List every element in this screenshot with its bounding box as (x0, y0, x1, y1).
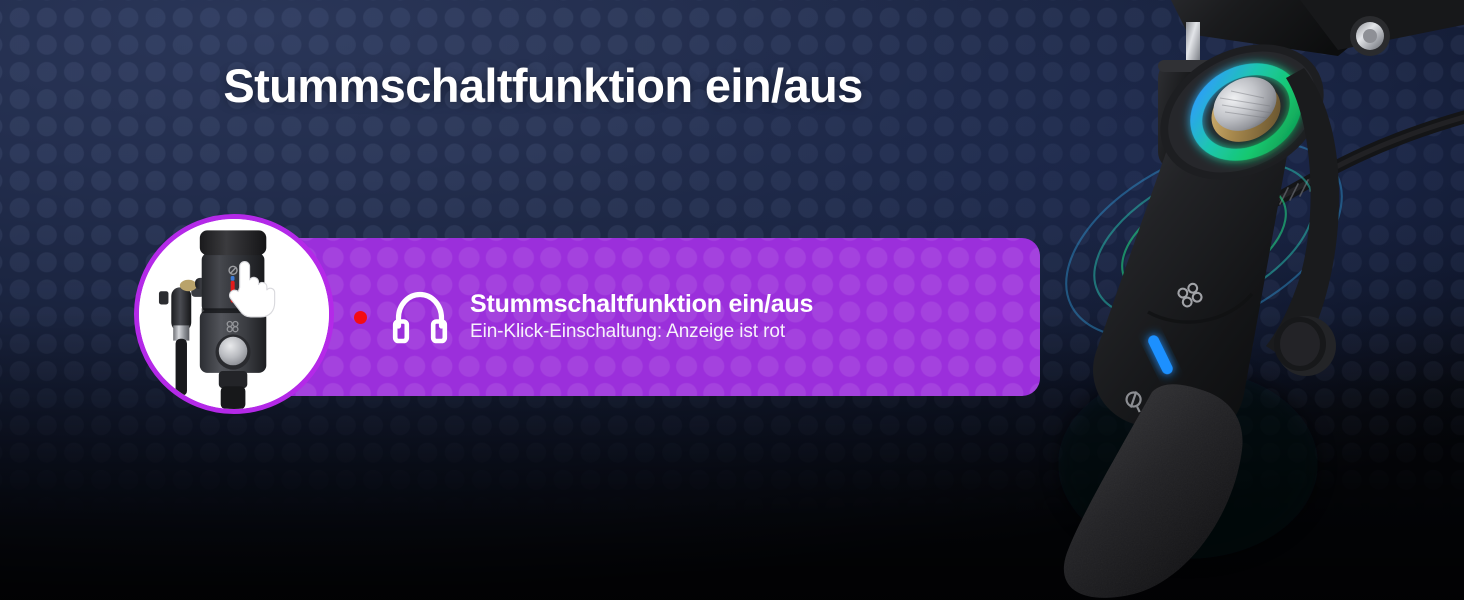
feature-banner-row: Stummschaltfunktion ein/aus Ein-Klick-Ei… (354, 238, 1040, 396)
headphones-icon (391, 289, 449, 345)
product-inset-circle (134, 214, 334, 414)
inset-illustration (139, 219, 329, 409)
page-title: Stummschaltfunktion ein/aus (0, 58, 1464, 113)
feature-banner: Stummschaltfunktion ein/aus Ein-Klick-Ei… (233, 238, 1040, 396)
promo-banner-stage: Stummschaltfunktion ein/aus Stummschaltf… (0, 0, 1464, 600)
feature-title: Stummschaltfunktion ein/aus (470, 290, 813, 318)
feature-text-block: Stummschaltfunktion ein/aus Ein-Klick-Ei… (470, 290, 813, 344)
feature-subtitle: Ein-Klick-Einschaltung: Anzeige ist rot (470, 321, 813, 344)
status-indicator-dot (354, 311, 367, 324)
